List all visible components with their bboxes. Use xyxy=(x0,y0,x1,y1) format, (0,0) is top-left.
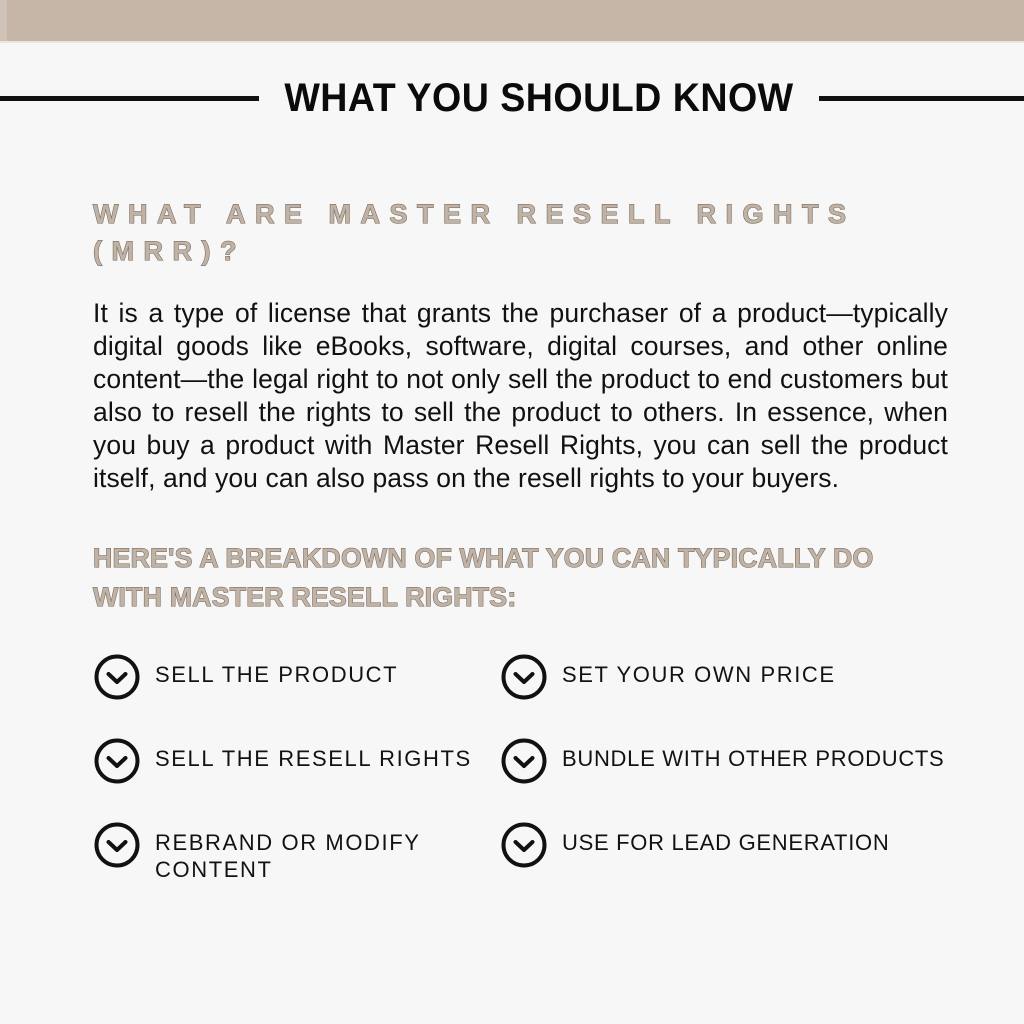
page-title: WHAT YOU SHOULD KNOW xyxy=(276,78,802,118)
benefit-item-bundle-with-other-products: BUNDLE WITH OTHER PRODUCTS xyxy=(500,735,953,819)
benefit-item-sell-the-resell-rights: SELL THE RESELL RIGHTS xyxy=(93,735,500,819)
check-circle-icon xyxy=(500,653,548,701)
top-accent-bar xyxy=(0,0,1024,41)
benefit-label: REBRAND OR MODIFY CONTENT xyxy=(155,819,485,883)
check-circle-icon xyxy=(93,737,141,785)
check-circle-icon xyxy=(93,821,141,869)
content-area: WHAT ARE MASTER RESELL RIGHTS (MRR)? It … xyxy=(93,196,953,903)
mrr-description-paragraph: It is a type of license that grants the … xyxy=(93,297,948,495)
benefit-item-set-your-own-price: SET YOUR OWN PRICE xyxy=(500,651,953,735)
page-header: WHAT YOU SHOULD KNOW xyxy=(0,72,1024,124)
benefit-label: USE FOR LEAD GENERATION xyxy=(562,819,889,856)
benefit-label: SELL THE PRODUCT xyxy=(155,651,398,688)
header-rule-left xyxy=(0,96,259,101)
benefits-grid: SELL THE PRODUCT SET YOUR OWN PRICE SELL… xyxy=(93,651,953,903)
header-rule-right xyxy=(819,96,1024,101)
check-circle-icon xyxy=(93,653,141,701)
benefit-label: BUNDLE WITH OTHER PRODUCTS xyxy=(562,735,944,772)
section-heading-mrr: WHAT ARE MASTER RESELL RIGHTS (MRR)? xyxy=(93,196,923,271)
benefit-item-sell-the-product: SELL THE PRODUCT xyxy=(93,651,500,735)
check-circle-icon xyxy=(500,737,548,785)
breakdown-heading-wrap: HERE'S A BREAKDOWN OF WHAT YOU CAN TYPIC… xyxy=(93,539,953,617)
benefit-label: SET YOUR OWN PRICE xyxy=(562,651,836,688)
benefit-item-use-for-lead-generation: USE FOR LEAD GENERATION xyxy=(500,819,953,903)
section-heading-breakdown: HERE'S A BREAKDOWN OF WHAT YOU CAN TYPIC… xyxy=(93,539,944,617)
top-accent-bar-edge xyxy=(0,0,7,41)
check-circle-icon xyxy=(500,821,548,869)
top-accent-bar-underline xyxy=(0,41,1024,43)
benefit-label: SELL THE RESELL RIGHTS xyxy=(155,735,472,772)
benefit-item-rebrand-or-modify-content: REBRAND OR MODIFY CONTENT xyxy=(93,819,500,903)
